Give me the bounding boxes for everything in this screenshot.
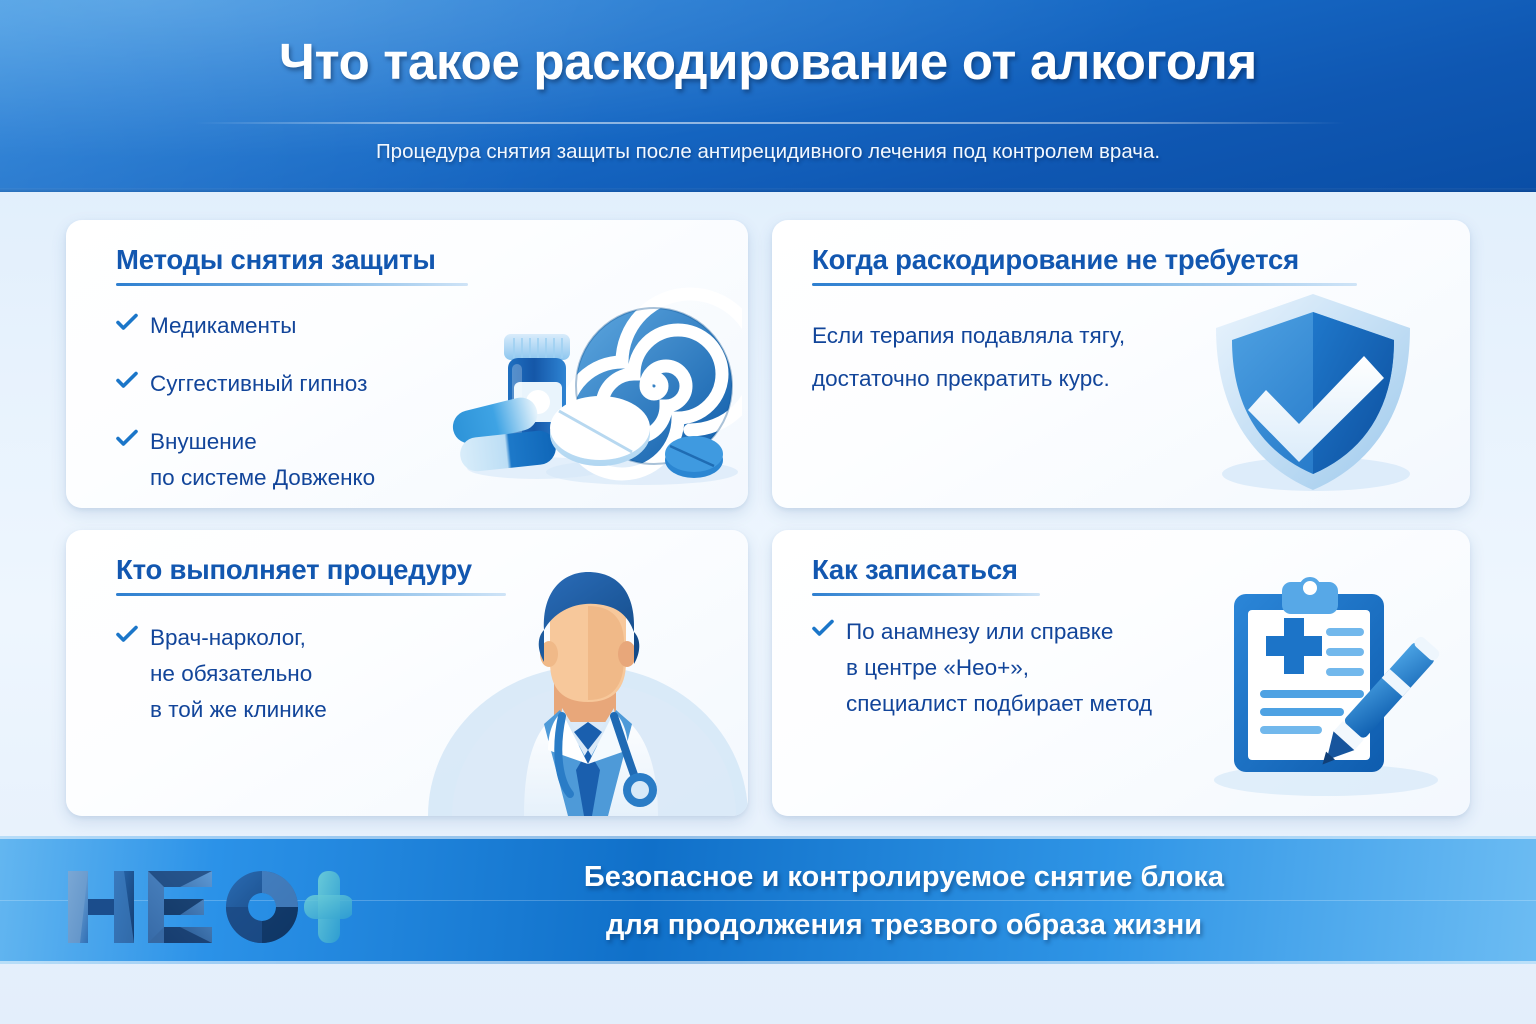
card-how-to-book-underline bbox=[812, 593, 1040, 596]
check-icon bbox=[116, 429, 140, 447]
list-item-label: Медикаменты bbox=[150, 308, 296, 344]
list-item-label: По анамнезу или справке в центре «Нео+»,… bbox=[846, 614, 1152, 722]
card-grid: Методы снятия защиты Медикаменты Суггест… bbox=[66, 220, 1470, 816]
list-item-label: Суггестивный гипноз bbox=[150, 366, 367, 402]
list-item: По анамнезу или справке в центре «Нео+»,… bbox=[812, 614, 1192, 722]
footer-tagline: Безопасное и контролируемое снятие блока… bbox=[352, 853, 1456, 949]
title-divider bbox=[195, 122, 1345, 124]
list-item: Медикаменты bbox=[116, 308, 476, 344]
list-item: Внушение по системе Довженко bbox=[116, 424, 476, 496]
card-who-performs-bullet-list: Врач-нарколог, не обязательно в той же к… bbox=[116, 620, 476, 728]
shield-check-icon bbox=[1198, 282, 1428, 502]
doctor-icon bbox=[428, 554, 748, 816]
list-item-label: Внушение по системе Довженко bbox=[150, 424, 375, 496]
card-when-not-needed-header: Когда раскодирование не требуется bbox=[812, 244, 1357, 286]
card-when-not-needed: Когда раскодирование не требуется Если т… bbox=[772, 220, 1470, 508]
neo-plus-logo: НЕО bbox=[62, 857, 352, 953]
list-item-label: Врач-нарколог, не обязательно в той же к… bbox=[150, 620, 327, 728]
list-item: Суггестивный гипноз bbox=[116, 366, 476, 402]
check-icon bbox=[116, 371, 140, 389]
check-icon bbox=[116, 313, 140, 331]
card-how-to-book-header: Как записаться bbox=[812, 554, 1040, 596]
pills-and-spiral-icon bbox=[442, 276, 742, 496]
page-header: Что такое раскодирование от алкоголя Про… bbox=[0, 0, 1536, 192]
list-item: Врач-нарколог, не обязательно в той же к… bbox=[116, 620, 476, 728]
check-icon bbox=[116, 625, 140, 643]
card-methods-bullet-list: Медикаменты Суггестивный гипноз Внушение… bbox=[116, 308, 476, 508]
clipboard-pen-icon bbox=[1186, 574, 1446, 804]
check-icon bbox=[812, 619, 836, 637]
card-how-to-book-bullet-list: По анамнезу или справке в центре «Нео+»,… bbox=[812, 614, 1192, 722]
card-how-to-book-title: Как записаться bbox=[812, 554, 1040, 586]
card-who-performs: Кто выполняет процедуру Врач-нарколог, н… bbox=[66, 530, 748, 816]
card-methods: Методы снятия защиты Медикаменты Суггест… bbox=[66, 220, 748, 508]
card-methods-underline bbox=[116, 283, 468, 286]
card-when-not-needed-title: Когда раскодирование не требуется bbox=[812, 244, 1357, 276]
card-methods-header: Методы снятия защиты bbox=[116, 244, 468, 286]
card-how-to-book: Как записаться По анамнезу или справке в… bbox=[772, 530, 1470, 816]
footer-band: НЕО Безопасное и контролируемое снятие б… bbox=[0, 836, 1536, 964]
card-when-not-needed-paragraph: Если терапия подавляла тягу, достаточно … bbox=[812, 314, 1125, 400]
card-methods-title: Методы снятия защиты bbox=[116, 244, 468, 276]
page-subtitle: Процедура снятия защиты после антирециди… bbox=[0, 140, 1536, 164]
page-title: Что такое раскодирование от алкоголя bbox=[0, 32, 1536, 91]
